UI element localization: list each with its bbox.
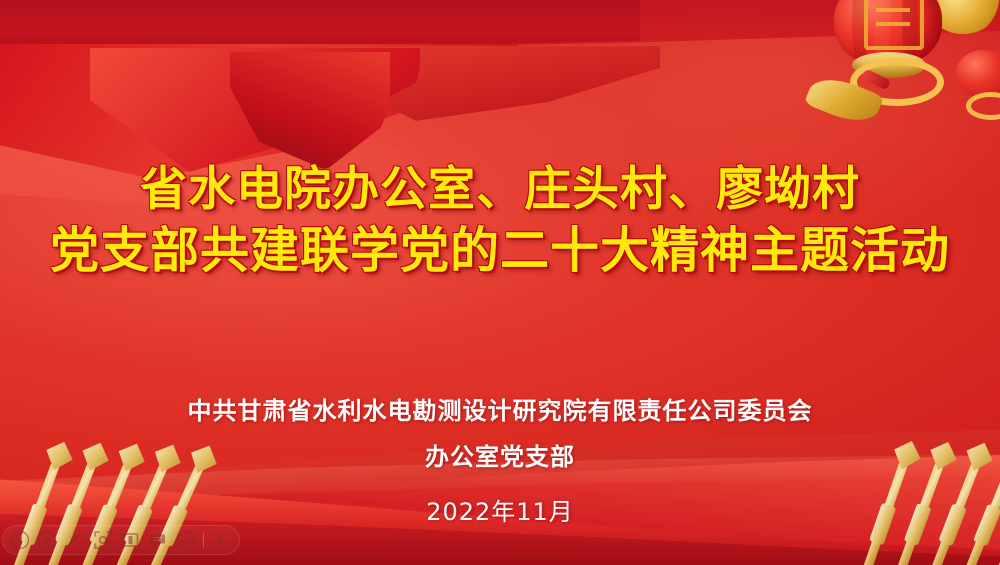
comment-button[interactable] <box>145 529 171 551</box>
slide-title: 省水电院办公室、庄头村、廖坳村 党支部共建联学党的二十大精神主题活动 <box>0 160 1000 280</box>
title-line-2: 党支部共建联学党的二十大精神主题活动 <box>0 220 1000 280</box>
control-bar-divider <box>203 532 204 548</box>
collapse-bar-button[interactable] <box>209 529 235 551</box>
laser-focus-button[interactable] <box>90 529 116 551</box>
organization-line-1: 中共甘肃省水利水电勘测设计研究院有限责任公司委员会 <box>0 388 1000 434</box>
organization-block: 中共甘肃省水利水电勘测设计研究院有限责任公司委员会 办公室党支部 <box>0 388 1000 480</box>
slide-view-button[interactable] <box>118 529 144 551</box>
lantern-decoration <box>806 0 1000 146</box>
next-slide-button[interactable] <box>35 529 61 551</box>
previous-slide-button[interactable] <box>7 529 33 551</box>
lantern-emblem-icon <box>864 0 924 50</box>
more-options-button[interactable] <box>173 529 199 551</box>
small-lantern-icon <box>956 50 1000 98</box>
title-line-1: 省水电院办公室、庄头村、廖坳村 <box>0 160 1000 220</box>
small-lantern-ring <box>966 92 1000 120</box>
slideshow-control-bar[interactable] <box>2 525 240 555</box>
organization-line-2: 办公室党支部 <box>0 434 1000 480</box>
presentation-slide: 省水电院办公室、庄头村、廖坳村 党支部共建联学党的二十大精神主题活动 中共甘肃省… <box>0 0 1000 565</box>
slide-date: 2022年11月 <box>0 492 1000 527</box>
pen-annotate-button[interactable] <box>62 529 88 551</box>
